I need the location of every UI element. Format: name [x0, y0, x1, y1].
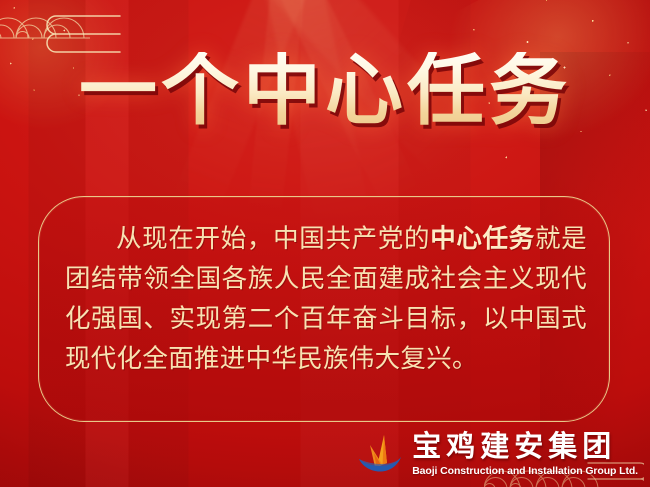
company-name-cn: 宝鸡建安集团 [412, 433, 638, 462]
statement-text-emphasis: 中心任务 [430, 225, 535, 253]
statement-card: 从现在开始，中国共产党的中心任务就是团结带领全国各族人民全面建成社会主义现代化强… [38, 196, 610, 422]
poster-root: 一个中心任务 从现在开始，中国共产党的中心任务就是团结带领全国各族人民全面建成社… [0, 0, 650, 487]
page-title-text: 一个中心任务 [79, 52, 571, 130]
page-title: 一个中心任务 [0, 52, 650, 130]
company-logo: 宝鸡建安集团 Baoji Construction and Installati… [357, 433, 638, 477]
statement-text-before: 从现在开始，中国共产党的 [116, 225, 430, 253]
company-name-en: Baoji Construction and Installation Grou… [412, 466, 638, 477]
sail-flame-logo-icon [357, 433, 403, 477]
company-logo-text: 宝鸡建安集团 Baoji Construction and Installati… [412, 433, 638, 477]
statement-text: 从现在开始，中国共产党的中心任务就是团结带领全国各族人民全面建成社会主义现代化强… [65, 219, 587, 379]
